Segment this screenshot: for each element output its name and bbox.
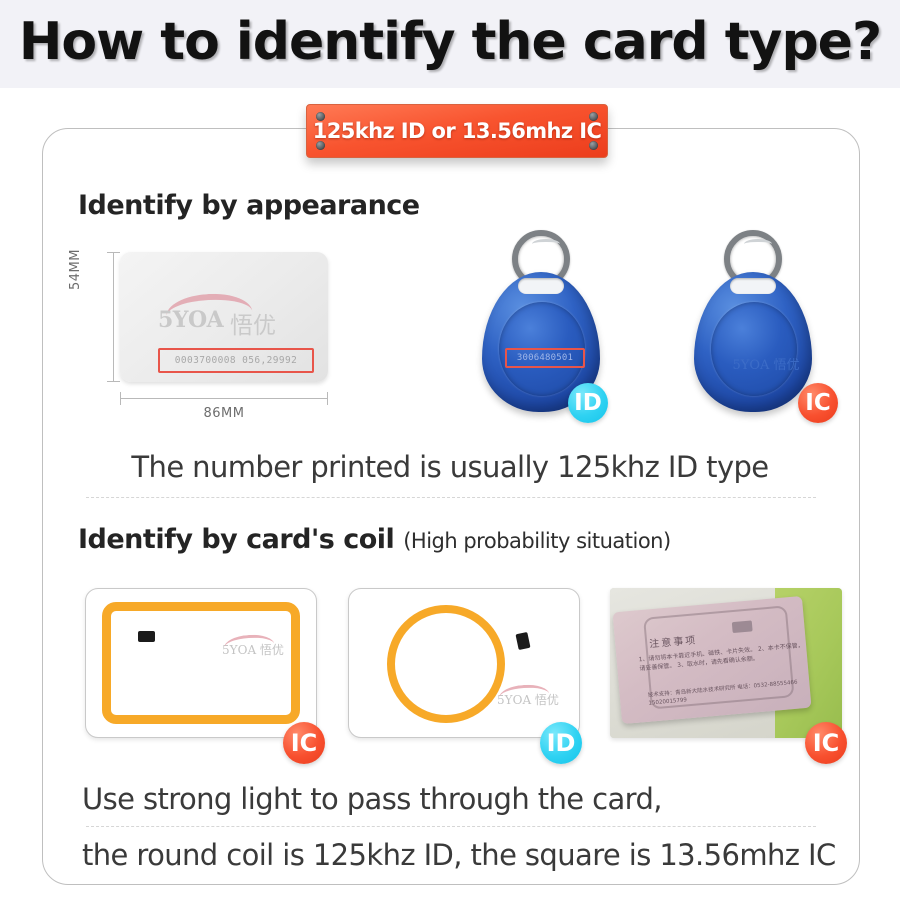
keyfob-id: 3006480501: [460, 228, 640, 433]
circular-coil-shape: [387, 605, 505, 723]
caption-bottom-line-2: the round coil is 125khz ID, the square …: [82, 838, 836, 872]
dimension-cap-right: [327, 392, 328, 405]
badge-id-keyfob: ID: [568, 383, 608, 423]
caption-bottom-line-1: Use strong light to pass through the car…: [82, 782, 662, 816]
divider-rule-2: [86, 826, 816, 827]
dimension-cap-top: [107, 252, 120, 253]
keyfob-logo: 5YOA 悟优: [731, 354, 801, 373]
appearance-row: 54MM 5YOA 悟优 0003700008 056,29992 86MM 3…: [60, 228, 860, 438]
card-logo: 5YOA 悟优: [158, 294, 288, 336]
badge-ic-keyfob: IC: [798, 383, 838, 423]
photo-chip-icon: [732, 620, 753, 633]
page-title: How to identify the card type?: [0, 12, 900, 72]
photo-card-face: 注意事项 1、请勿将本卡靠近手机、磁铁、卡片失效。 2、本卡不保管，请妥善保管。…: [612, 596, 811, 724]
chip-icon: [515, 632, 530, 650]
logo-cjk-text: 悟优: [230, 306, 276, 340]
logo-wordmark: 5YOA: [158, 307, 223, 333]
white-id-card: 5YOA 悟优 0003700008 056,29992: [120, 252, 328, 382]
card-width-label: 86MM: [120, 406, 328, 421]
coil-card-logo: 5YOA 悟优: [489, 691, 567, 708]
keyfob-disc: 5YOA 悟优: [711, 302, 797, 396]
coil-card-logo: 5YOA 悟优: [214, 641, 292, 658]
dimension-line-vertical: [113, 252, 114, 382]
keyfob-serial-number: 3006480501: [517, 353, 573, 363]
round-coil-card: 5YOA 悟优: [348, 588, 580, 738]
section-heading-coil: Identify by card's coil (High probabilit…: [78, 524, 671, 555]
dimension-line-horizontal: [120, 398, 328, 399]
badge-id-round-coil: ID: [540, 722, 582, 764]
keyfob-body: 5YOA 悟优: [694, 272, 812, 412]
badge-ic-square-coil: IC: [283, 722, 325, 764]
dimension-cap-bottom: [107, 381, 120, 382]
dimension-cap-left: [120, 392, 121, 405]
divider-rule-1: [86, 497, 816, 498]
section-heading-appearance: Identify by appearance: [78, 190, 420, 221]
keyfob-serial-highlight: 3006480501: [505, 348, 585, 368]
card-serial-number: 0003700008 056,29992: [175, 355, 297, 366]
rectangular-coil-shape: [102, 602, 300, 724]
section-heading-coil-note: (High probability situation): [403, 529, 670, 553]
square-coil-card: 5YOA 悟优: [85, 588, 317, 738]
card-serial-highlight: 0003700008 056,29992: [158, 348, 314, 373]
card-height-dimension: [107, 252, 119, 382]
plate-badge: 125khz ID or 13.56mhz IC: [306, 104, 608, 158]
logo-swoosh-icon: [499, 683, 550, 699]
backlit-card-photo: 注意事项 1、请勿将本卡靠近手机、磁铁、卡片失效。 2、本卡不保管，请妥善保管。…: [610, 588, 842, 738]
plate-badge-label: 125khz ID or 13.56mhz IC: [307, 105, 607, 157]
badge-ic-photo-card: IC: [805, 722, 847, 764]
card-width-dimension: 86MM: [120, 392, 328, 404]
caption-appearance: The number printed is usually 125khz ID …: [0, 450, 900, 484]
card-height-label: 54MM: [68, 249, 83, 290]
keyfob-disc: 3006480501: [499, 302, 585, 396]
section-heading-coil-main: Identify by card's coil: [78, 524, 394, 555]
chip-icon: [138, 631, 155, 642]
